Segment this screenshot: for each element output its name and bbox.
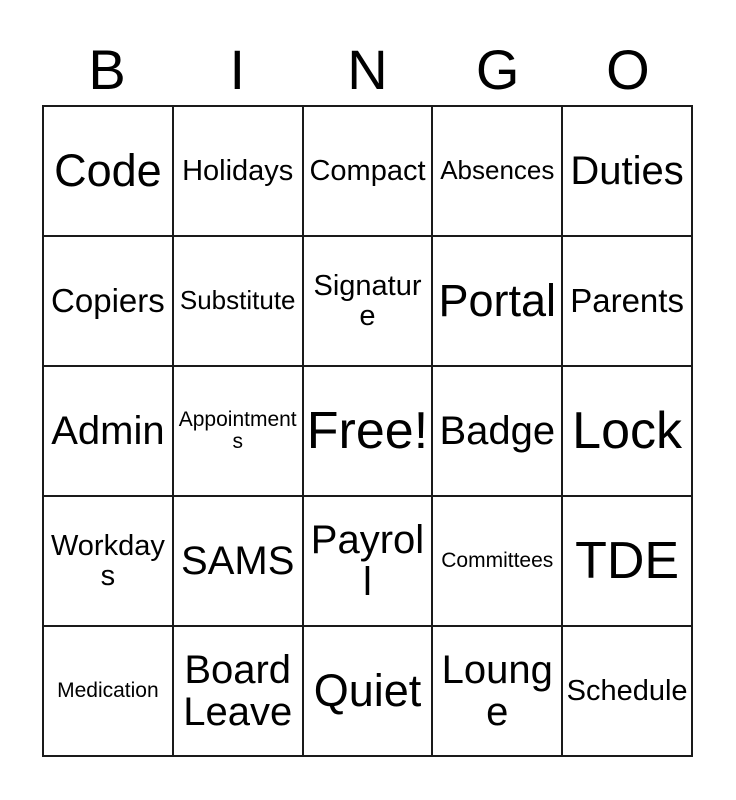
bingo-cell-label: TDE (566, 534, 688, 589)
bingo-cell-payroll[interactable]: Payroll (304, 497, 434, 627)
bingo-card: BINGO CodeHolidaysCompactAbsencesDutiesC… (0, 0, 736, 800)
bingo-cell-label: Lounge (436, 649, 558, 733)
bingo-cell-portal[interactable]: Portal (433, 237, 563, 367)
bingo-cell-medication[interactable]: Medication (44, 627, 174, 757)
bingo-cell-label: Holidays (177, 156, 299, 186)
bingo-cell-label: Portal (436, 277, 558, 324)
bingo-cell-label: Payroll (307, 519, 429, 603)
bingo-cell-duties[interactable]: Duties (563, 107, 693, 237)
bingo-cell-label: Code (47, 147, 169, 194)
bingo-cell-label: Free! (307, 404, 429, 459)
bingo-cell-label: Committees (436, 550, 558, 572)
bingo-cell-label: Substitute (177, 287, 299, 314)
bingo-cell-label: Absences (436, 157, 558, 184)
bingo-cell-label: Schedule (566, 676, 688, 706)
bingo-cell-label: Duties (566, 150, 688, 192)
bingo-cell-label: Lock (566, 404, 688, 459)
bingo-cell-label: Parents (566, 284, 688, 319)
bingo-header-letter-n: N (302, 26, 432, 98)
bingo-header-letter-o: O (563, 26, 693, 98)
bingo-cell-parents[interactable]: Parents (563, 237, 693, 367)
bingo-cell-free[interactable]: Free! (304, 367, 434, 497)
bingo-header-letter-i: I (172, 26, 302, 98)
bingo-cell-label: Compact (307, 156, 429, 186)
bingo-cell-holidays[interactable]: Holidays (174, 107, 304, 237)
bingo-cell-committees[interactable]: Committees (433, 497, 563, 627)
bingo-cell-copiers[interactable]: Copiers (44, 237, 174, 367)
bingo-cell-label: Appointments (177, 409, 299, 453)
bingo-cell-code[interactable]: Code (44, 107, 174, 237)
bingo-cell-lock[interactable]: Lock (563, 367, 693, 497)
bingo-grid: CodeHolidaysCompactAbsencesDutiesCopiers… (42, 105, 693, 757)
bingo-cell-signature[interactable]: Signature (304, 237, 434, 367)
bingo-cell-label: Quiet (307, 667, 429, 714)
bingo-cell-appointments[interactable]: Appointments (174, 367, 304, 497)
bingo-cell-label: Admin (47, 410, 169, 452)
bingo-header-letter-b: B (42, 26, 172, 98)
bingo-cell-workdays[interactable]: Workdays (44, 497, 174, 627)
bingo-cell-label: Board Leave (177, 649, 299, 733)
bingo-cell-sams[interactable]: SAMS (174, 497, 304, 627)
bingo-cell-label: Copiers (47, 284, 169, 319)
bingo-cell-label: Badge (436, 410, 558, 452)
bingo-cell-label: SAMS (177, 540, 299, 582)
bingo-cell-absences[interactable]: Absences (433, 107, 563, 237)
bingo-cell-board-leave[interactable]: Board Leave (174, 627, 304, 757)
bingo-cell-lounge[interactable]: Lounge (433, 627, 563, 757)
bingo-cell-badge[interactable]: Badge (433, 367, 563, 497)
bingo-cell-compact[interactable]: Compact (304, 107, 434, 237)
bingo-cell-label: Medication (47, 680, 169, 702)
bingo-cell-admin[interactable]: Admin (44, 367, 174, 497)
bingo-header-row: BINGO (42, 26, 693, 98)
bingo-cell-substitute[interactable]: Substitute (174, 237, 304, 367)
bingo-cell-tde[interactable]: TDE (563, 497, 693, 627)
bingo-cell-label: Workdays (47, 531, 169, 592)
bingo-cell-schedule[interactable]: Schedule (563, 627, 693, 757)
bingo-cell-label: Signature (307, 271, 429, 332)
bingo-cell-quiet[interactable]: Quiet (304, 627, 434, 757)
bingo-header-letter-g: G (433, 26, 563, 98)
